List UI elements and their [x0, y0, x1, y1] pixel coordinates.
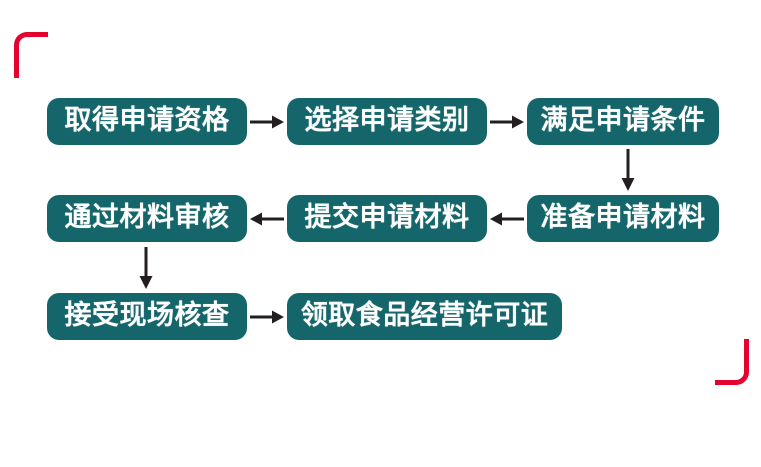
flow-node-choose-category[interactable]: 选择申请类别: [287, 98, 487, 145]
flow-node-submit-materials[interactable]: 提交申请材料: [287, 195, 487, 242]
flow-node-pass-review[interactable]: 通过材料审核: [47, 195, 247, 242]
flow-node-label: 选择申请类别: [305, 107, 470, 134]
arrow-down-n3-to-n6-icon: [617, 148, 639, 192]
flow-node-label: 取得申请资格: [65, 107, 230, 134]
arrow-down-n4-to-n7-icon: [135, 246, 157, 290]
flow-node-label: 接受现场核查: [65, 302, 230, 329]
flow-node-meet-conditions[interactable]: 满足申请条件: [527, 98, 719, 145]
flow-node-label: 提交申请材料: [305, 204, 470, 231]
arrow-right-n7-to-n8-icon: [249, 306, 285, 328]
flowchart-canvas: 取得申请资格 选择申请类别 满足申请条件 通过材料审核: [0, 0, 761, 467]
arrow-left-n6-to-n5-icon: [489, 208, 525, 230]
flow-node-prepare-materials[interactable]: 准备申请材料: [527, 195, 719, 242]
corner-bracket-bottom-right-icon: [715, 339, 749, 385]
arrow-left-n5-to-n4-icon: [249, 208, 285, 230]
flow-node-take-qualification[interactable]: 取得申请资格: [47, 98, 247, 145]
arrow-right-n2-to-n3-icon: [489, 111, 525, 133]
flow-node-onsite-inspection[interactable]: 接受现场核查: [47, 293, 247, 340]
arrow-right-n1-to-n2-icon: [249, 111, 285, 133]
flow-node-label: 满足申请条件: [541, 107, 706, 134]
flow-node-receive-license[interactable]: 领取食品经营许可证: [287, 293, 562, 340]
flow-node-label: 通过材料审核: [65, 204, 230, 231]
flow-node-label: 准备申请材料: [541, 204, 706, 231]
corner-bracket-top-left-icon: [14, 32, 48, 78]
flow-node-label: 领取食品经营许可证: [301, 302, 549, 329]
